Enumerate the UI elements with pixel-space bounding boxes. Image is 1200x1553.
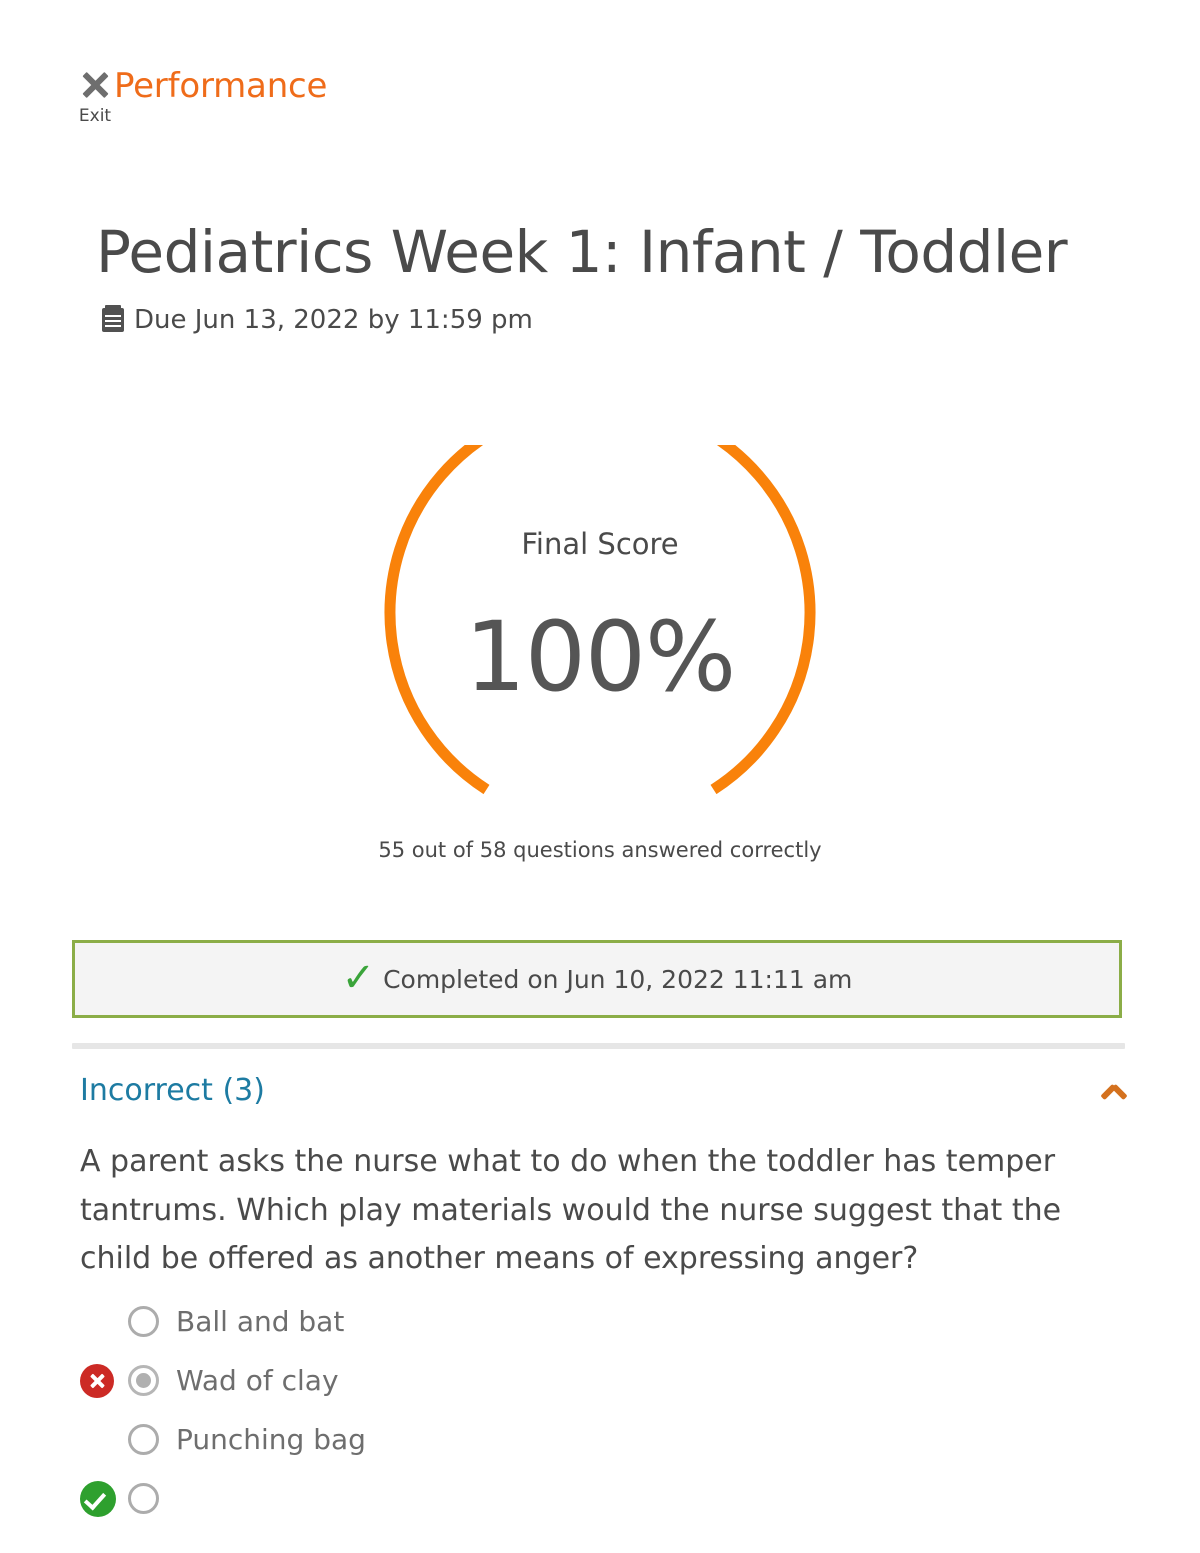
option-label: Wad of clay: [176, 1364, 339, 1397]
green-check-icon: ✓: [342, 958, 376, 998]
incorrect-section-header[interactable]: Incorrect (3): [80, 1073, 1128, 1108]
result-mark-slot: [80, 1364, 128, 1398]
exit-label: Exit: [79, 108, 111, 125]
close-x-icon[interactable]: [78, 68, 112, 102]
list-item[interactable]: Punching bag: [80, 1410, 780, 1469]
due-date-row: Due Jun 13, 2022 by 11:59 pm: [102, 305, 533, 335]
performance-title: Performance: [114, 69, 327, 103]
list-item[interactable]: Wad of clay: [80, 1351, 780, 1410]
answer-options-list: Ball and bat Wad of clay Punching bag: [80, 1292, 780, 1528]
incorrect-section-title[interactable]: Incorrect (3): [80, 1073, 265, 1108]
gauge-label: Final Score: [0, 527, 1200, 561]
radio-button[interactable]: [128, 1483, 159, 1514]
section-divider: [72, 1043, 1125, 1049]
calendar-icon: [102, 308, 124, 332]
chevron-up-icon[interactable]: [1100, 1082, 1128, 1100]
radio-button-selected[interactable]: [128, 1365, 159, 1396]
final-score-gauge: Final Score 100% 55 out of 58 questions …: [0, 445, 1200, 865]
completion-text: Completed on Jun 10, 2022 11:11 am: [383, 965, 852, 994]
gauge-value: 100%: [0, 609, 1200, 705]
top-bar: Exit Performance: [78, 68, 327, 125]
question-text: A parent asks the nurse what to do when …: [80, 1138, 1110, 1284]
option-label: Punching bag: [176, 1423, 366, 1456]
incorrect-x-icon: [80, 1364, 114, 1398]
correct-check-icon: [80, 1481, 116, 1517]
radio-button[interactable]: [128, 1424, 159, 1455]
radio-button[interactable]: [128, 1306, 159, 1337]
due-date-text: Due Jun 13, 2022 by 11:59 pm: [134, 305, 533, 335]
option-label: Ball and bat: [176, 1305, 344, 1338]
list-item[interactable]: [80, 1469, 780, 1528]
page-title: Pediatrics Week 1: Infant / Toddler: [96, 222, 1067, 283]
result-mark-slot: [80, 1481, 128, 1517]
list-item[interactable]: Ball and bat: [80, 1292, 780, 1351]
gauge-subtext: 55 out of 58 questions answered correctl…: [0, 838, 1200, 862]
completion-banner: ✓ Completed on Jun 10, 2022 11:11 am: [72, 940, 1122, 1018]
exit-button[interactable]: Exit: [78, 68, 112, 125]
